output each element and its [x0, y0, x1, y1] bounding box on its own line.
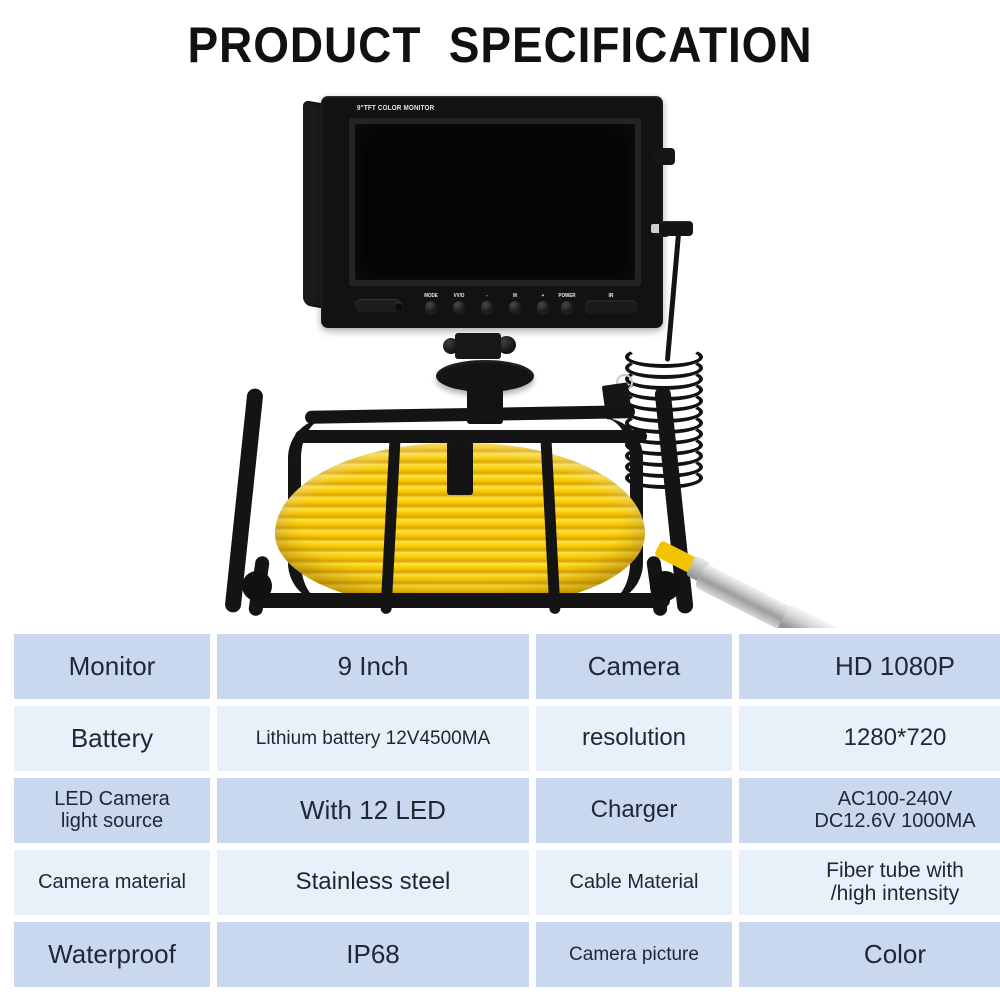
monitor-power-jack [653, 148, 675, 165]
monitor-brand-label: 9"TFT COLOR MONITOR [357, 105, 434, 112]
spec-value-charger: AC100-240V DC12.6V 1000MA [739, 778, 1000, 843]
cable-segment [665, 234, 681, 362]
spec-label-monitor: Monitor [14, 634, 210, 699]
reel-wheel-left [242, 571, 272, 601]
reel-wheel-right [650, 571, 680, 601]
spec-value-waterproof: IP68 [217, 922, 529, 987]
spec-value-camera-picture: Color [739, 922, 1000, 987]
spec-value-led-light-source: With 12 LED [217, 778, 529, 843]
reel-frame-crossbar [295, 430, 647, 443]
monitor-button-video-label: VV/O [454, 293, 465, 299]
monitor-tilt-bracket [455, 333, 501, 359]
spec-value-cable-material: Fiber tube with /high intensity [739, 850, 1000, 915]
spec-value-camera: HD 1080P [739, 634, 1000, 699]
monitor-ir-label: IR [609, 293, 614, 299]
monitor-button-plus-label: + [542, 293, 545, 299]
spec-label-battery: Battery [14, 706, 210, 771]
monitor-indicator-led [395, 302, 403, 310]
monitor-ir-receiver [585, 300, 637, 314]
spec-label-waterproof: Waterproof [14, 922, 210, 987]
reel-frame-bottom-bar [250, 593, 670, 608]
specification-table: Monitor 9 Inch Camera HD 1080P Battery L… [14, 634, 986, 994]
monitor-button-mode-label: MODE [424, 293, 438, 299]
spec-label-camera-material: Camera material [14, 850, 210, 915]
reel-hub [447, 443, 473, 495]
product-photo: 9"TFT COLOR MONITOR MODE VV/O - M [0, 88, 1000, 628]
product-specification-page: PRODUCT SPECIFICATION 9"TFT COLOR MONITO… [0, 0, 1000, 1000]
monitor-body: 9"TFT COLOR MONITOR MODE VV/O - M [321, 96, 663, 328]
table-row: Battery Lithium battery 12V4500MA resolu… [14, 706, 986, 771]
monitor-assembly: 9"TFT COLOR MONITOR MODE VV/O - M [303, 96, 663, 336]
yellow-cable-reel [275, 443, 645, 608]
monitor-button-menu[interactable] [509, 301, 521, 313]
monitor-button-minus[interactable] [481, 301, 493, 313]
monitor-bezel [349, 118, 641, 286]
spec-label-resolution: resolution [536, 706, 732, 771]
monitor-button-power[interactable] [561, 301, 573, 313]
spec-label-cable-material: Cable Material [536, 850, 732, 915]
spec-label-led-light-source: LED Camera light source [14, 778, 210, 843]
monitor-button-bar: MODE VV/O - M + POWER IR [349, 292, 641, 320]
monitor-button-menu-label: M [513, 293, 517, 299]
table-row: LED Camera light source With 12 LED Char… [14, 778, 986, 843]
table-row: Monitor 9 Inch Camera HD 1080P [14, 634, 986, 699]
monitor-button-power-label: POWER [558, 293, 575, 299]
spec-value-monitor: 9 Inch [217, 634, 529, 699]
spec-label-camera-picture: Camera picture [536, 922, 732, 987]
spec-value-camera-material: Stainless steel [217, 850, 529, 915]
spec-value-battery: Lithium battery 12V4500MA [217, 706, 529, 771]
spec-label-charger: Charger [536, 778, 732, 843]
monitor-button-mode[interactable] [425, 301, 437, 313]
table-row: Waterproof IP68 Camera picture Color [14, 922, 986, 987]
table-row: Camera material Stainless steel Cable Ma… [14, 850, 986, 915]
monitor-button-video[interactable] [453, 301, 465, 313]
monitor-button-plus[interactable] [537, 301, 549, 313]
monitor-button-minus-label: - [486, 293, 488, 299]
spec-value-resolution: 1280*720 [739, 706, 1000, 771]
page-title: PRODUCT SPECIFICATION [40, 16, 960, 74]
monitor-screen [355, 124, 635, 280]
spec-label-camera: Camera [536, 634, 732, 699]
